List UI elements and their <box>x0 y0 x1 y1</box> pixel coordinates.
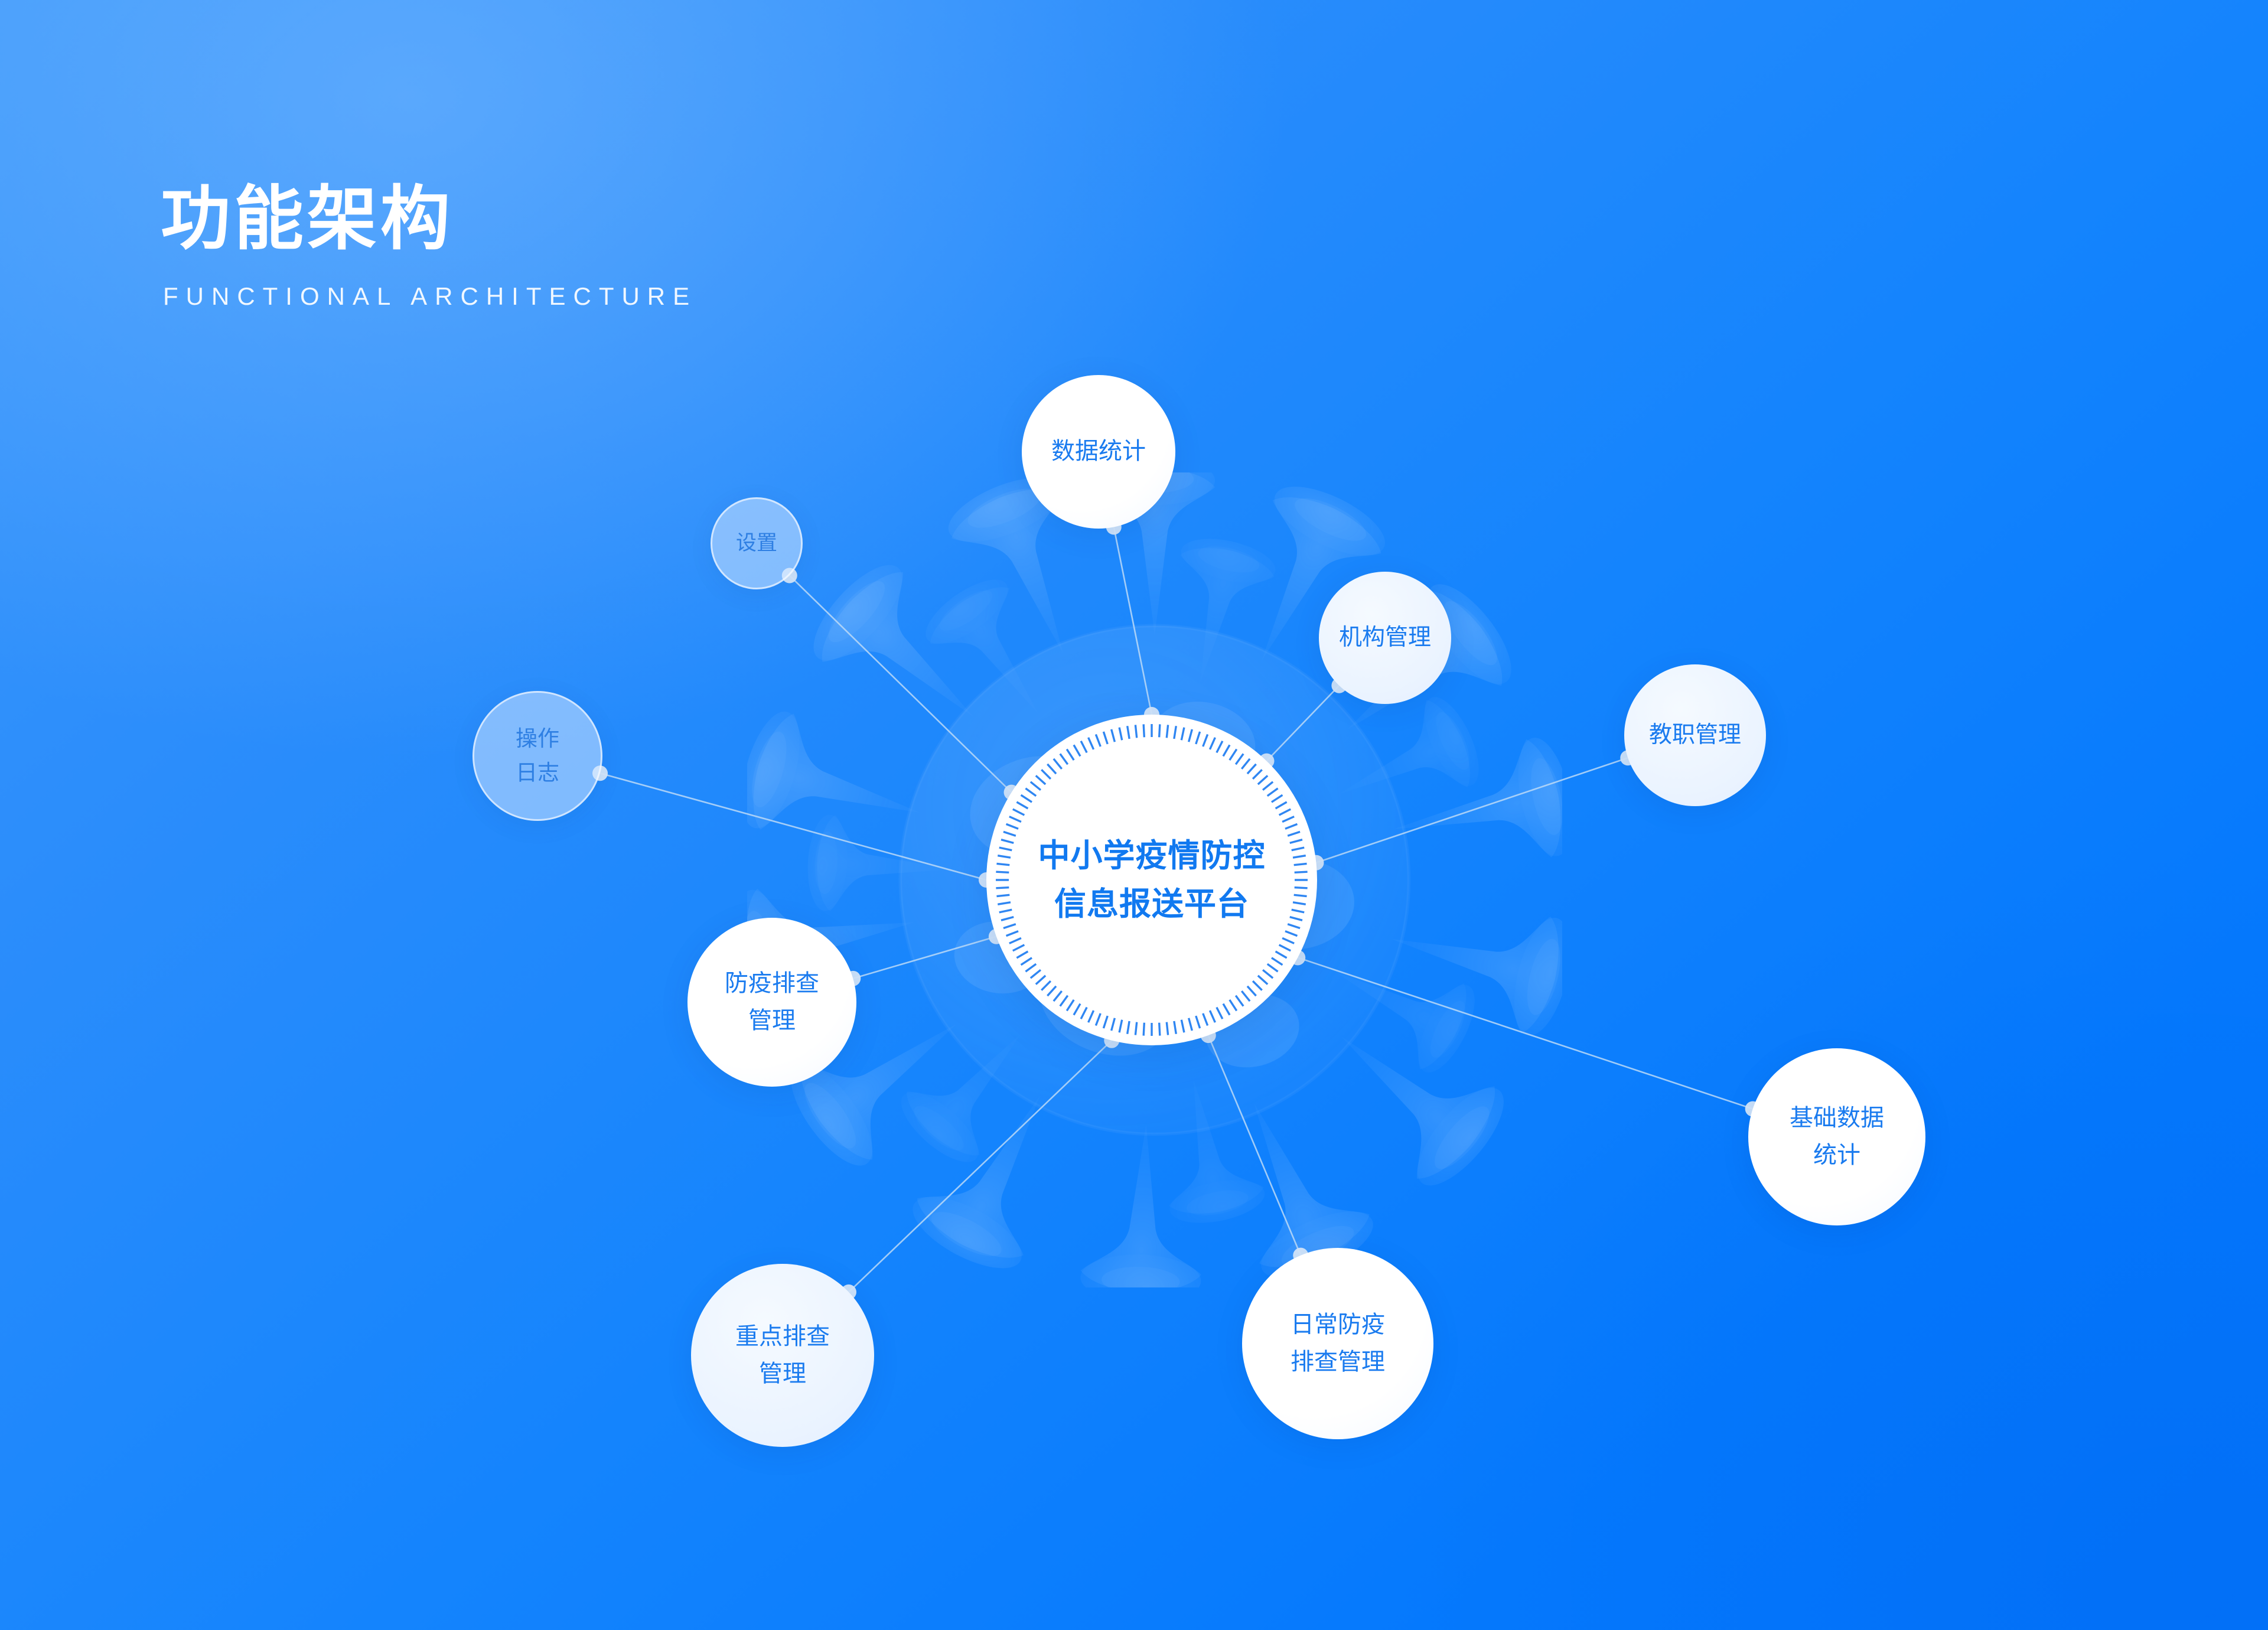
node-caozuo-rizhi[interactable]: 操作 日志 <box>472 691 602 821</box>
page-subtitle: FUNCTIONAL ARCHITECTURE <box>163 282 988 311</box>
node-label: 重点排查 管理 <box>735 1318 830 1393</box>
node-label: 教职管理 <box>1649 717 1741 754</box>
node-label: 防疫排查 管理 <box>725 965 819 1039</box>
node-label: 日常防疫 排查管理 <box>1291 1306 1385 1381</box>
node-label: 操作 日志 <box>516 722 559 791</box>
node-zhongdian-paicha[interactable]: 重点排查 管理 <box>691 1264 874 1447</box>
center-hub-label: 中小学疫情防控 信息报送平台 <box>1038 832 1266 928</box>
center-hub-node[interactable]: 中小学疫情防控 信息报送平台 <box>986 715 1317 1045</box>
node-label: 设置 <box>736 527 777 559</box>
node-fangyi-paicha[interactable]: 防疫排查 管理 <box>687 918 856 1087</box>
header-block: 功能架构 FUNCTIONAL ARCHITECTURE <box>161 183 988 311</box>
node-richang-fangyi[interactable]: 日常防疫 排查管理 <box>1242 1248 1433 1439</box>
node-label: 数据统计 <box>1051 433 1146 470</box>
node-jichu-shuju[interactable]: 基础数据 统计 <box>1748 1048 1925 1225</box>
page-title: 功能架构 <box>161 183 988 256</box>
node-shuju-tongji[interactable]: 数据统计 <box>1022 375 1175 529</box>
node-label: 机构管理 <box>1339 620 1431 656</box>
node-jiaozhi-guanli[interactable]: 教职管理 <box>1624 664 1766 806</box>
node-shezhi[interactable]: 设置 <box>711 497 803 589</box>
slide-canvas: 功能架构 FUNCTIONAL ARCHITECTURE 中小学疫情防控 信息报… <box>0 0 2268 1630</box>
node-jigou-guanli[interactable]: 机构管理 <box>1319 572 1451 704</box>
node-label: 基础数据 统计 <box>1790 1100 1884 1174</box>
